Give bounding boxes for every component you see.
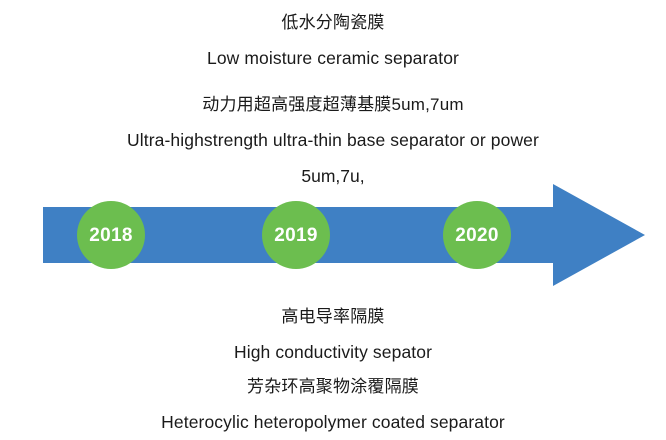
bottom-group2-english-label: Heterocylic heteropolymer coated separat… <box>0 404 666 440</box>
bottom-group2-chinese-label: 芳杂环高聚物涂覆隔膜 <box>0 370 666 404</box>
top-group1-english-label: Low moisture ceramic separator <box>0 40 666 76</box>
year-marker-2020[interactable]: 2020 <box>443 201 511 269</box>
bottom-annotation-block: 高电导率隔膜 High conductivity sepator 芳杂环高聚物涂… <box>0 300 666 440</box>
bottom-group1-english-label: High conductivity sepator <box>0 334 666 370</box>
top-group1-chinese-label: 低水分陶瓷膜 <box>0 6 666 40</box>
year-marker-2018-label: 2018 <box>89 226 132 245</box>
top-text-group-spacer <box>0 76 666 88</box>
timeline-diagram-canvas: 低水分陶瓷膜 Low moisture ceramic separator 动力… <box>0 0 666 439</box>
year-marker-2018[interactable]: 2018 <box>77 201 145 269</box>
year-marker-2019-label: 2019 <box>274 226 317 245</box>
top-group2-chinese-label: 动力用超高强度超薄基膜5um,7um <box>0 88 666 122</box>
year-marker-2019[interactable]: 2019 <box>262 201 330 269</box>
top-group2-english-label: Ultra-highstrength ultra-thin base separ… <box>0 122 666 158</box>
top-annotation-block: 低水分陶瓷膜 Low moisture ceramic separator 动力… <box>0 6 666 194</box>
year-marker-2020-label: 2020 <box>455 226 498 245</box>
bottom-group1-chinese-label: 高电导率隔膜 <box>0 300 666 334</box>
